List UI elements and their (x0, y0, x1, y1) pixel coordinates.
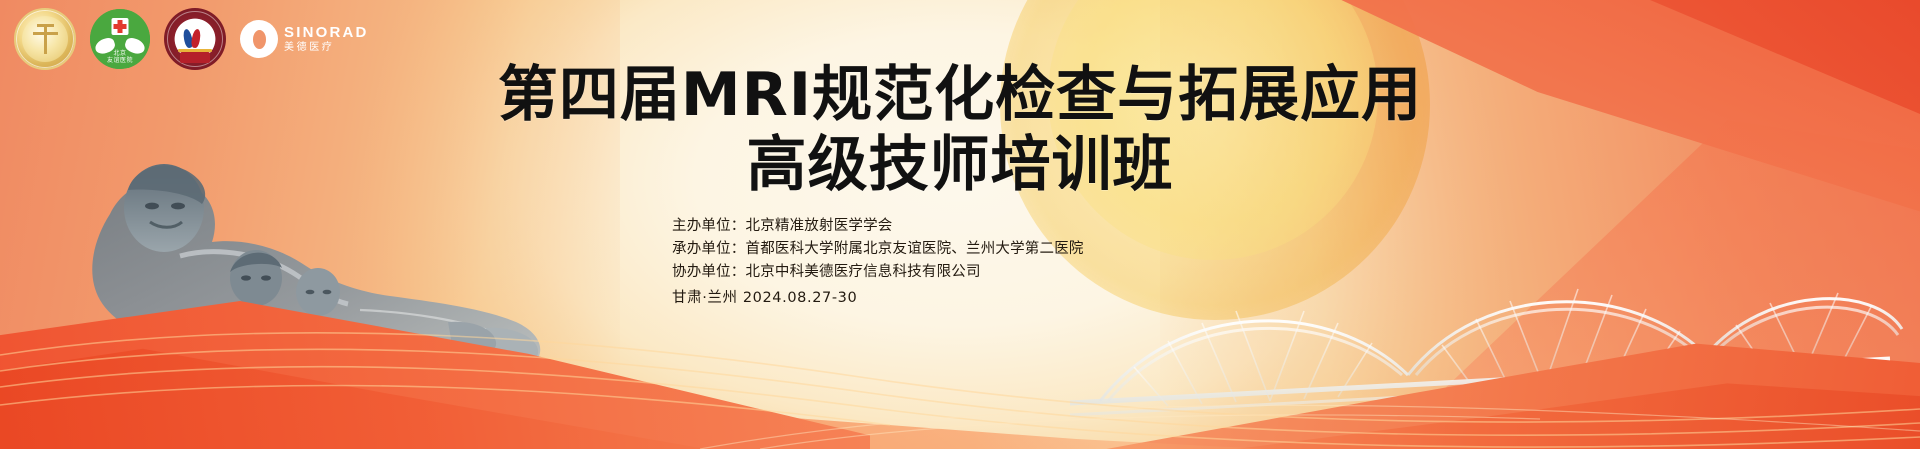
lanzhou-university-second-hospital-logo[interactable] (164, 8, 226, 70)
undertaker-line: 承办单位：首都医科大学附属北京友谊医院、兰州大学第二医院 (672, 238, 1084, 261)
sponsor-logo-row: 北京 友谊医院 SINORAD 美德医疗 (14, 8, 369, 70)
event-info-block: 主办单位：北京精准放射医学学会 承办单位：首都医科大学附属北京友谊医院、兰州大学… (672, 215, 1084, 310)
sinorad-subtext: 美德医疗 (284, 43, 369, 53)
sinorad-wordmark: SINORAD 美德医疗 (284, 25, 369, 53)
location-date-line: 甘肃·兰州 2024.08.27-30 (672, 287, 1084, 310)
sinorad-eye-shape (253, 30, 266, 49)
swoosh-emblem-icon (182, 29, 208, 49)
hospital-circle: 北京 友谊医院 (90, 9, 150, 69)
conference-banner: 北京 友谊医院 SINORAD 美德医疗 第四 (0, 0, 1920, 449)
sinorad-logo[interactable]: SINORAD 美德医疗 (240, 20, 369, 58)
title-line-1: 第四届MRI规范化检查与拓展应用 (0, 62, 1920, 128)
gate-building-icon (180, 52, 210, 63)
medallion-inner (22, 16, 68, 62)
banner-title-block: 第四届MRI规范化检查与拓展应用 高级技师培训班 (0, 62, 1920, 198)
sinorad-mark-icon (240, 20, 278, 58)
medical-cross-icon (112, 18, 129, 35)
organizer-line: 主办单位：北京精准放射医学学会 (672, 215, 1084, 238)
cross-emblem-icon (44, 24, 47, 54)
hospital-logo-text: 北京 友谊医院 (90, 51, 150, 65)
beijing-precision-radiology-society-logo[interactable] (14, 8, 76, 70)
coorganizer-line: 协办单位：北京中科美德医疗信息科技有限公司 (672, 261, 1084, 284)
beijing-friendship-hospital-logo[interactable]: 北京 友谊医院 (90, 9, 150, 69)
title-line-2: 高级技师培训班 (0, 132, 1920, 198)
sinorad-name: SINORAD (284, 25, 369, 40)
